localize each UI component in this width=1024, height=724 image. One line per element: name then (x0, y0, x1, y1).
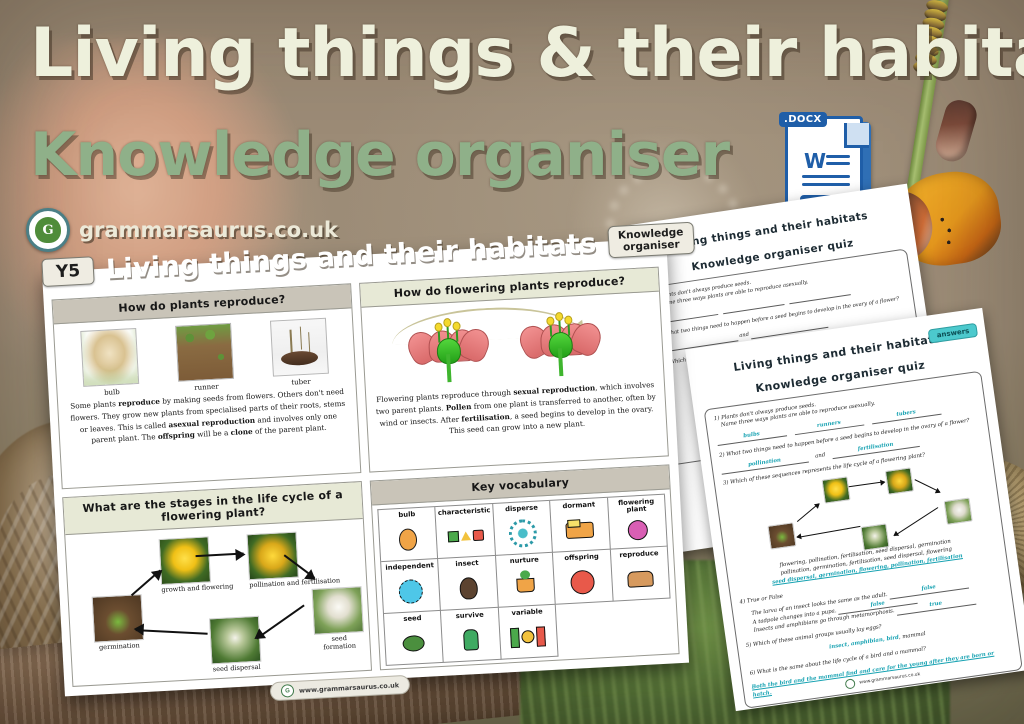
vocab-cell-variable[interactable]: variable (499, 605, 559, 660)
hero-title-line1: Living things & their habitats (30, 14, 1024, 93)
answer-value: runners (817, 420, 842, 429)
cycle-arrow-icon (136, 629, 208, 635)
body-seg: Some plants (70, 399, 118, 411)
tag-line2: organiser (618, 238, 684, 254)
dormant-icon (565, 509, 595, 551)
answer-value: false (870, 600, 885, 608)
flower-diagram-right (519, 306, 601, 378)
vocab-cell-independent[interactable]: independent (381, 559, 441, 614)
growth-and-flowering-photo (159, 536, 211, 585)
panel-how-do-flowering-plants-reproduce: How do flowering plants reproduce? (359, 267, 669, 473)
seed-icon (402, 622, 426, 664)
photo-cell: bulb (81, 328, 141, 398)
pollination-and-fertilisation-photo (246, 532, 298, 581)
answers-q5-rest: , mammal (899, 631, 926, 641)
characteristic-icon (446, 515, 484, 558)
vocab-cell-dormant[interactable]: dormant (550, 498, 610, 553)
bulb-icon (398, 518, 418, 560)
photo-caption: bulb (84, 387, 140, 398)
vocab-cell-nurture[interactable]: nurture (496, 553, 556, 608)
quiz-q2-joiner: and (739, 332, 750, 339)
mini-pollination-photo (885, 468, 914, 495)
body-bold: fertilisation (461, 412, 510, 424)
body-bold: offspring (158, 430, 196, 441)
stage-label: seed formation (314, 634, 365, 652)
life-cycle-stage: growth and flowering (159, 535, 234, 595)
body-seg: of the parent plant. (252, 423, 326, 436)
vocab-cell-reproduce[interactable]: reproduce (610, 547, 670, 602)
vocab-cell-empty (556, 602, 616, 657)
panel-life-cycle: What are the stages in the life cycle of… (62, 481, 372, 687)
answer-value: pollination (748, 457, 781, 468)
knowledge-organiser-sheet[interactable]: Y5 Living things and their habitats Know… (42, 238, 689, 696)
vocab-cell-offspring[interactable]: offspring (553, 550, 613, 605)
vocab-cell-characteristic[interactable]: characteristic (436, 504, 496, 559)
insect-icon (458, 567, 478, 609)
plant-reproduction-photos: bulb runner tuber (61, 317, 348, 399)
life-cycle-diagram: germination growth and flowering pollina… (73, 524, 365, 687)
vocab-cell-disperse[interactable]: disperse (493, 501, 553, 556)
mini-germination-photo (768, 523, 797, 550)
panel-how-do-plants-reproduce: How do plants reproduce? bulb runner (52, 283, 362, 489)
vocab-cell-survive[interactable]: survive (441, 608, 501, 663)
answers-question-box: 1) Plants don't always produce seeds. Na… (704, 370, 1023, 709)
offspring-icon (570, 561, 596, 603)
vocab-cell-bulb[interactable]: bulb (378, 507, 438, 562)
mini-flowering-photo (822, 477, 851, 504)
life-cycle-stage: seed dispersal (209, 616, 262, 675)
tuber-photo (270, 318, 329, 377)
vocabulary-table: bulb characteristic (377, 494, 673, 666)
independent-icon (398, 570, 424, 612)
seed-formation-photo (312, 586, 364, 635)
word-mark-icon: W (804, 151, 826, 171)
grammarsaurus-logo-icon: G (281, 684, 295, 698)
answers-q2-joiner: and (815, 452, 826, 461)
grammarsaurus-logo-icon: G (26, 208, 70, 252)
pollination-diagram (369, 297, 657, 390)
organiser-footer-url: www.grammarsaurus.co.uk (299, 681, 400, 694)
answer-value: tubers (896, 409, 916, 418)
runner-photo (175, 323, 234, 382)
photo-cell: runner (175, 323, 235, 393)
photo-cell: tuber (270, 318, 330, 388)
cycle-arrow-icon (256, 604, 305, 639)
logo-letter: G (35, 217, 61, 243)
answer-value: true (929, 601, 942, 609)
grammarsaurus-logo-icon (845, 678, 856, 689)
photo-caption: tuber (273, 377, 329, 388)
answer-value: bulbs (743, 431, 760, 439)
vocab-cell-insect[interactable]: insect (438, 556, 498, 611)
vocab-cell-empty (613, 598, 673, 653)
body-bold: Pollen (446, 402, 472, 412)
vocab-word: flowering plant (608, 498, 665, 515)
stage-label: germination (94, 642, 144, 653)
flower-diagram-left (407, 312, 489, 384)
screenshot-stage: Living things & their habitats Knowledge… (0, 0, 1024, 724)
panel-key-vocabulary: Key vocabulary bulb characteristic (370, 464, 680, 670)
body-bold: sexual reproduction (513, 383, 595, 396)
year-badge: Y5 (41, 256, 95, 287)
quiz-answers-sheet[interactable]: Living things and their habitats Knowled… (685, 308, 1024, 711)
bulb-photo (81, 328, 140, 387)
reproduce-icon (626, 558, 654, 600)
page-fold-icon (844, 123, 869, 148)
stage-label: growth and flowering (161, 583, 233, 595)
life-cycle-stage: seed formation (312, 586, 365, 652)
body-bold: clone (230, 427, 252, 437)
docx-format-tag: .DOCX (779, 112, 827, 127)
body-seg: will be a (195, 428, 231, 439)
photo-caption: runner (178, 382, 234, 393)
hero-title-line2: Knowledge organiser (30, 120, 729, 190)
vocab-cell-seed[interactable]: seed (384, 611, 444, 666)
germination-photo (92, 594, 144, 643)
body-bold: reproduce (118, 397, 160, 408)
panel-body-text: Flowering plants reproduce through sexua… (373, 379, 659, 442)
answer-value: fertilisation (857, 441, 893, 452)
disperse-icon (508, 512, 538, 554)
survive-icon (463, 619, 480, 661)
knowledge-organiser-tag: Knowledge organiser (607, 222, 694, 259)
answer-value: false (921, 584, 936, 592)
cycle-arrow-icon (131, 570, 161, 597)
stage-label: seed dispersal (212, 664, 262, 675)
seed-dispersal-photo (209, 616, 261, 665)
life-cycle-stage: pollination and fertilisation (246, 529, 340, 590)
mini-seed-dispersal-photo (861, 524, 890, 551)
vocab-cell-flowering-plant[interactable]: flowering plant (608, 495, 668, 550)
nurture-icon (516, 564, 536, 606)
mini-seed-formation-photo (944, 498, 973, 525)
flowering-plant-icon (627, 513, 649, 548)
variable-icon (510, 615, 547, 658)
